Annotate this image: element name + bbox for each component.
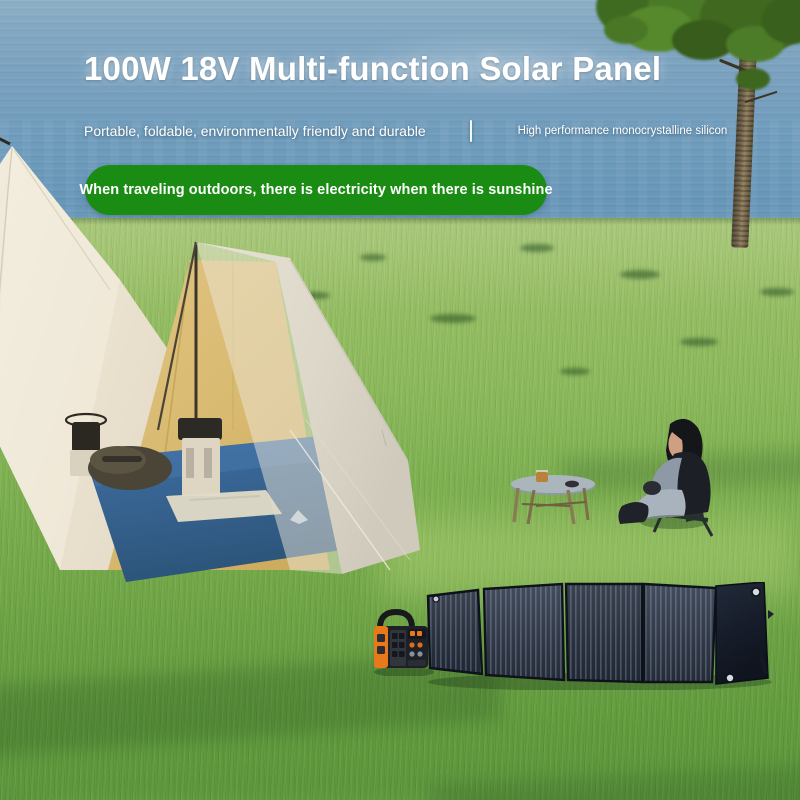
- tent-peak-cap: [0, 138, 10, 144]
- subtitle-secondary: High performance monocrystalline silicon: [518, 125, 728, 137]
- subtitle-divider: [470, 120, 472, 142]
- panel-grommet: [726, 674, 734, 682]
- seated-person: [600, 410, 730, 540]
- panel-grommet: [752, 588, 760, 596]
- table-item: [565, 481, 579, 488]
- table-leg: [584, 488, 588, 520]
- solar-panel-segment: [484, 584, 564, 680]
- folding-solar-panel: [420, 582, 775, 690]
- page-title: 100W 18V Multi-function Solar Panel: [84, 50, 764, 88]
- person-hand: [643, 481, 661, 495]
- camp-stove: [178, 418, 222, 496]
- station-button: [409, 642, 414, 647]
- panel-kickstand: [768, 610, 774, 619]
- solar-panel-back-flap: [716, 582, 774, 684]
- station-button: [409, 651, 414, 656]
- product-banner: 100W 18V Multi-function Solar Panel Port…: [0, 0, 800, 800]
- subtitle-row: Portable, foldable, environmentally frie…: [84, 120, 784, 142]
- solar-panel-segment: [644, 584, 716, 682]
- duffel-bag: [88, 446, 172, 490]
- panel-grommet: [433, 596, 439, 602]
- table-leg: [528, 490, 534, 524]
- camp-table: [508, 470, 598, 530]
- tree-foliage: [604, 16, 648, 44]
- portable-power-station: [366, 604, 438, 676]
- callout-banner: When traveling outdoors, there is electr…: [85, 165, 547, 215]
- station-handle: [380, 612, 412, 628]
- table-leg: [568, 490, 574, 524]
- person-shadow: [640, 515, 708, 529]
- station-button: [417, 651, 422, 656]
- water-bottle: [536, 470, 548, 482]
- callout-text: When traveling outdoors, there is electr…: [79, 182, 552, 198]
- station-port: [377, 634, 385, 642]
- station-port: [377, 646, 385, 654]
- subtitle-primary: Portable, foldable, environmentally frie…: [84, 123, 426, 139]
- table-leg: [514, 488, 518, 522]
- solar-panel-segment: [566, 584, 642, 682]
- station-button: [417, 642, 422, 647]
- station-shadow: [374, 667, 434, 676]
